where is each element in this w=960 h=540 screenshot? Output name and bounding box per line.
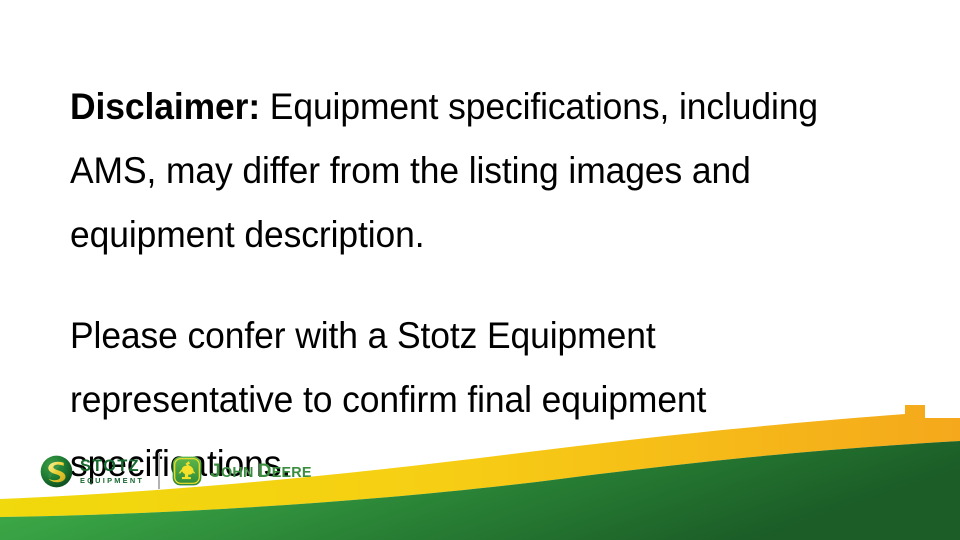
jd-word-deere-initial: D bbox=[258, 461, 272, 482]
paragraph-disclaimer: Disclaimer: Equipment specifications, in… bbox=[70, 74, 860, 266]
john-deere-logo: JOHN DEERE John Deere bbox=[172, 456, 312, 486]
jd-word-deere-rest: EERE bbox=[272, 465, 312, 481]
john-deere-leaping-deer-icon bbox=[172, 456, 202, 486]
stotz-secondary-text: EQUIPMENT bbox=[80, 477, 144, 484]
stotz-primary-text: STOTZ bbox=[80, 458, 144, 475]
slide-canvas: Disclaimer: Equipment specifications, in… bbox=[0, 0, 960, 540]
jd-word-john-rest: OHN bbox=[221, 465, 254, 481]
footer-logo-lockup: STOTZ EQUIPMENT bbox=[40, 450, 312, 492]
stotz-wordmark: STOTZ EQUIPMENT bbox=[80, 458, 144, 484]
stotz-circle-swoosh-icon bbox=[40, 455, 73, 488]
jd-word-john-initial: J bbox=[210, 461, 221, 482]
stotz-equipment-logo: STOTZ EQUIPMENT bbox=[40, 455, 144, 488]
john-deere-wordmark: JOHN DEERE bbox=[210, 462, 312, 481]
disclaimer-label: Disclaimer: bbox=[70, 85, 260, 127]
logo-divider bbox=[158, 453, 160, 489]
